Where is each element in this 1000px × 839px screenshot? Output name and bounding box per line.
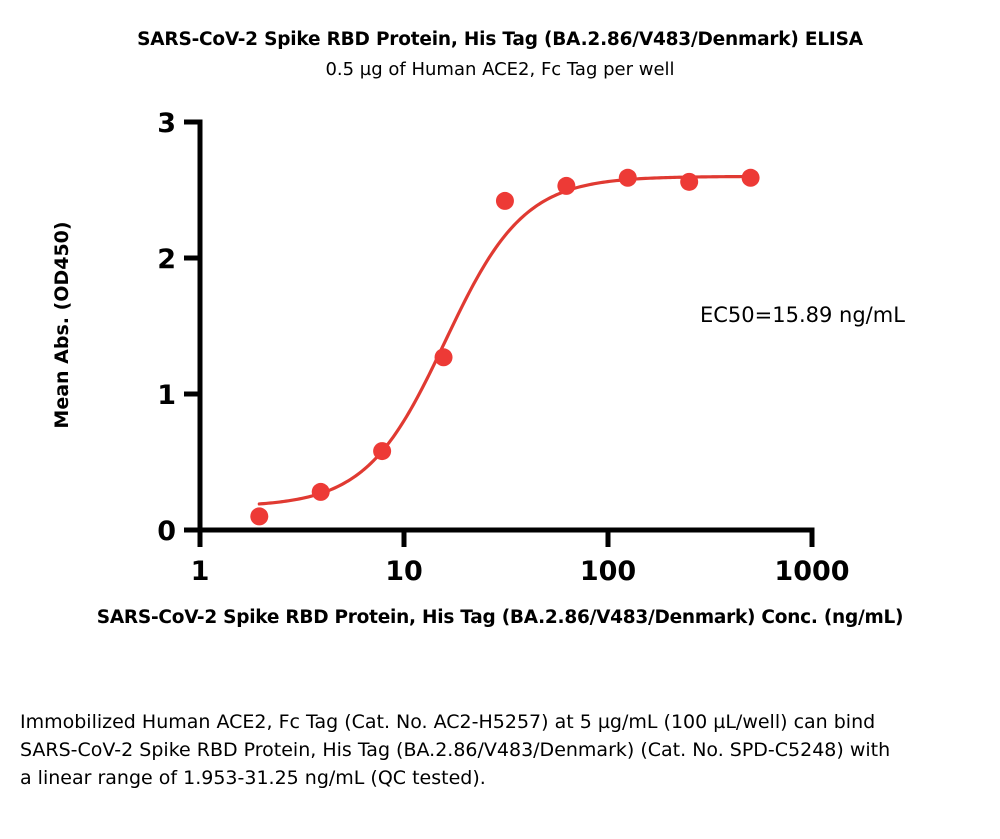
- figure-description: Immobilized Human ACE2, Fc Tag (Cat. No.…: [20, 708, 900, 792]
- y-axis-title: Mean Abs. (OD450): [51, 221, 73, 428]
- y-tick-label: 2: [157, 244, 176, 275]
- data-point: [557, 177, 575, 195]
- x-axis-title: SARS-CoV-2 Spike RBD Protein, His Tag (B…: [0, 607, 1000, 628]
- y-tick-label: 3: [157, 108, 176, 139]
- x-tick-label: 1000: [774, 556, 849, 587]
- x-tick-label: 1: [191, 556, 210, 587]
- data-point: [680, 173, 698, 191]
- data-point: [496, 192, 514, 210]
- chart-plot-area: 0123 1101001000 Mean Abs. (OD450) EC50=1…: [0, 0, 1000, 660]
- y-tick-label: 0: [157, 516, 176, 547]
- data-point: [619, 169, 637, 187]
- data-point: [435, 348, 453, 366]
- y-tick-label: 1: [157, 380, 176, 411]
- elisa-binding-curve-chart: 0123 1101001000 Mean Abs. (OD450) EC50=1…: [0, 0, 1000, 660]
- data-point: [250, 507, 268, 525]
- data-point: [742, 169, 760, 187]
- y-axis-ticks: 0123: [157, 108, 200, 547]
- x-axis-ticks: 1101001000: [191, 530, 850, 587]
- data-point-group: [250, 169, 759, 526]
- fit-curve: [259, 177, 750, 504]
- ec50-annotation: EC50=15.89 ng/mL: [700, 303, 905, 327]
- x-tick-label: 10: [385, 556, 423, 587]
- x-tick-label: 100: [580, 556, 636, 587]
- data-point: [373, 442, 391, 460]
- data-point: [312, 483, 330, 501]
